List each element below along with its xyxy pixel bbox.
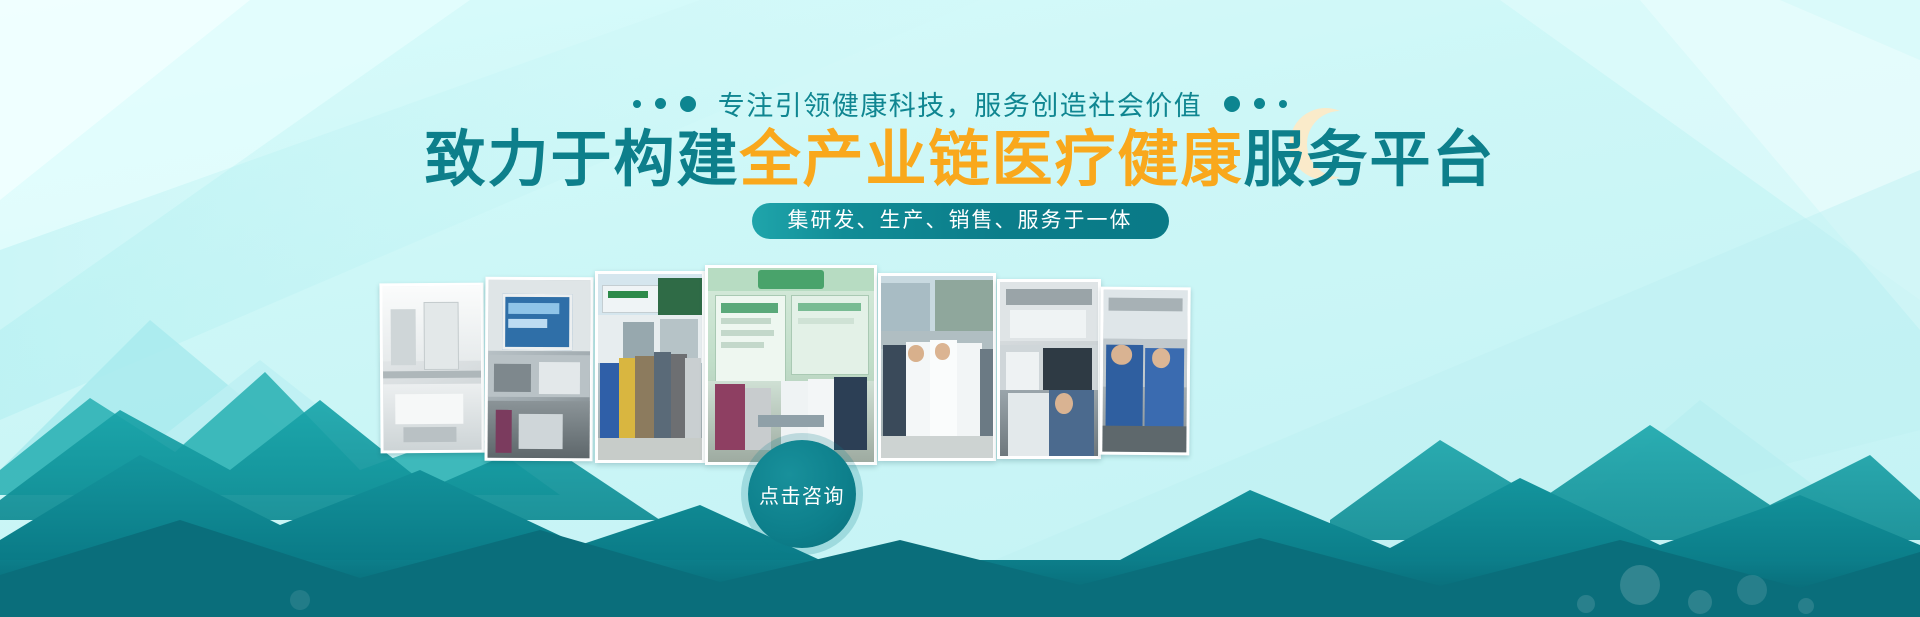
tagline-text: 专注引领健康科技，服务创造社会价值	[718, 84, 1203, 123]
photo-strip	[0, 265, 1920, 465]
promotional-banner: 专注引领健康科技，服务创造社会价值 致力于构建全产业链医疗健康服务平台 集研发、…	[0, 0, 1920, 617]
tagline-row: 专注引领健康科技，服务创造社会价值	[0, 84, 1920, 123]
subtitle-pill: 集研发、生产、销售、服务于一体	[752, 203, 1169, 239]
photo-health-kiosk-screening-device	[485, 277, 594, 462]
photo-medical-laboratory-equipment	[379, 283, 484, 454]
medium-dot-icon	[1254, 98, 1265, 109]
photo-health-station-consultation-room	[705, 265, 877, 465]
large-dot-icon	[1224, 96, 1240, 112]
dots-right	[1224, 96, 1287, 112]
subtitle-pill-wrap: 集研发、生产、销售、服务于一体	[0, 203, 1920, 239]
large-dot-icon	[680, 96, 696, 112]
headline-part-2-highlight: 全产业链医疗健康	[739, 125, 1243, 193]
headline-part-1: 致力于构建	[424, 125, 739, 193]
small-dot-icon	[1279, 100, 1287, 108]
consult-button[interactable]: 点击咨询	[748, 440, 856, 548]
photo-staff-at-workstation	[1099, 287, 1190, 456]
dots-left	[633, 96, 696, 112]
headline: 致力于构建全产业链医疗健康服务平台	[0, 124, 1920, 194]
photo-technician-operating-equipment	[997, 279, 1101, 459]
headline-part-3: 服务平台	[1244, 125, 1496, 193]
photo-doctors-outdoor-health-service	[878, 273, 996, 461]
medium-dot-icon	[655, 98, 666, 109]
consult-button-label: 点击咨询	[759, 480, 845, 509]
small-dot-icon	[633, 100, 641, 108]
photo-mobile-clinic-van-queue	[595, 271, 705, 463]
